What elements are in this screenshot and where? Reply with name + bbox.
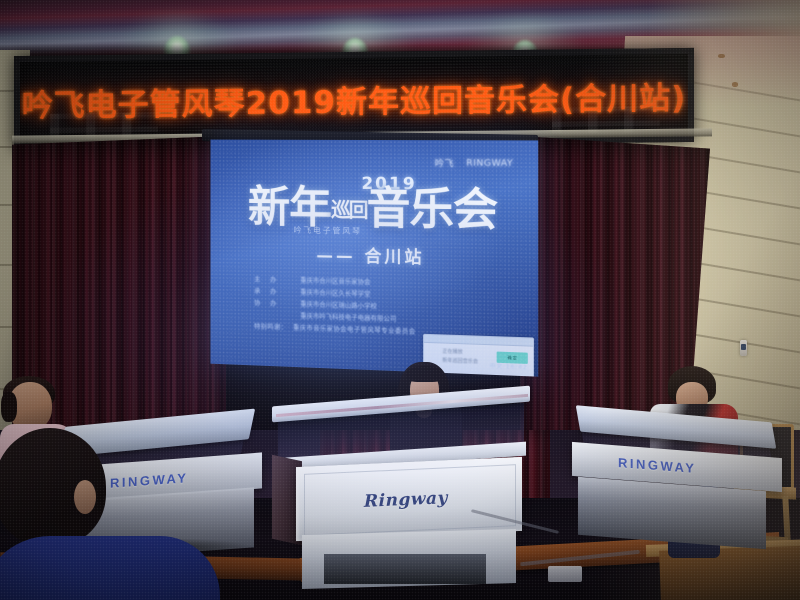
foreground-person-shoulder [0, 536, 220, 600]
logo-yinfei: 吟飞 [435, 156, 454, 169]
wall-mark-1 [718, 54, 725, 58]
screen-title-right: 音乐会 [367, 183, 498, 236]
screen-year: 2019 [246, 173, 538, 196]
credit-row: 重庆市吟飞科技电子电器有限公司 [254, 309, 503, 329]
wall-switch[interactable] [740, 340, 747, 356]
performer-left-hair-side [1, 392, 17, 422]
credit-row: 主 办重庆市合川区音乐家协会 [254, 273, 503, 291]
dialog-titlebar [424, 335, 533, 347]
screen-sponsor-logos: 吟飞 RINGWAY [435, 156, 513, 170]
dialog-text: 正在播放 新年巡回音乐会 [424, 343, 533, 368]
screen-taskbar: 中文 16:42 [490, 362, 528, 372]
credit-row: 特别鸣谢：重庆市音乐家协会电子管风琴专业委员会 [254, 320, 503, 340]
logo-ringway: RINGWAY [466, 158, 513, 168]
organ-center[interactable]: Ringway [268, 380, 538, 590]
screen-title-block: 2019 新年巡回音乐会 吟飞电子管风琴 —— 合川站 [210, 173, 538, 271]
dialog-confirm-button[interactable]: 确 定 [497, 352, 528, 364]
screen-brand-small: 吟飞电子管风琴 [210, 222, 538, 240]
credit-row: 协 办重庆市合川区瑞山路小学校 [254, 297, 503, 316]
foreground-person-ear [74, 480, 96, 514]
screen-credits: 主 办重庆市合川区音乐家协会 承 办重庆市合川区久长琴学堂 协 办重庆市合川区瑞… [254, 273, 503, 340]
led-banner-text: 吟飞电子管风琴2019新年巡回音乐会(合川站) [20, 72, 688, 125]
wall-mark-2 [732, 82, 738, 87]
screen-title-left: 新年 [248, 182, 331, 233]
projection-screen: 吟飞 RINGWAY 2019 新年巡回音乐会 吟飞电子管风琴 —— 合川站 主… [210, 140, 538, 377]
screen-title-mid: 巡回 [331, 198, 366, 222]
screen-main-title: 新年巡回音乐会 [210, 186, 538, 232]
credit-row: 承 办重庆市合川区久长琴学堂 [254, 285, 503, 304]
organ-center-brand-logo: Ringway [364, 488, 448, 512]
organ-right[interactable]: RINGWAY [570, 400, 790, 550]
floor-power-box [548, 566, 582, 582]
screen-station: —— 合川站 [210, 239, 538, 271]
organ-center-pedalboard[interactable] [324, 554, 486, 584]
photo-scene: 吟飞电子管风琴2019新年巡回音乐会(合川站) 吟飞 RINGWAY 2019 … [0, 0, 800, 600]
